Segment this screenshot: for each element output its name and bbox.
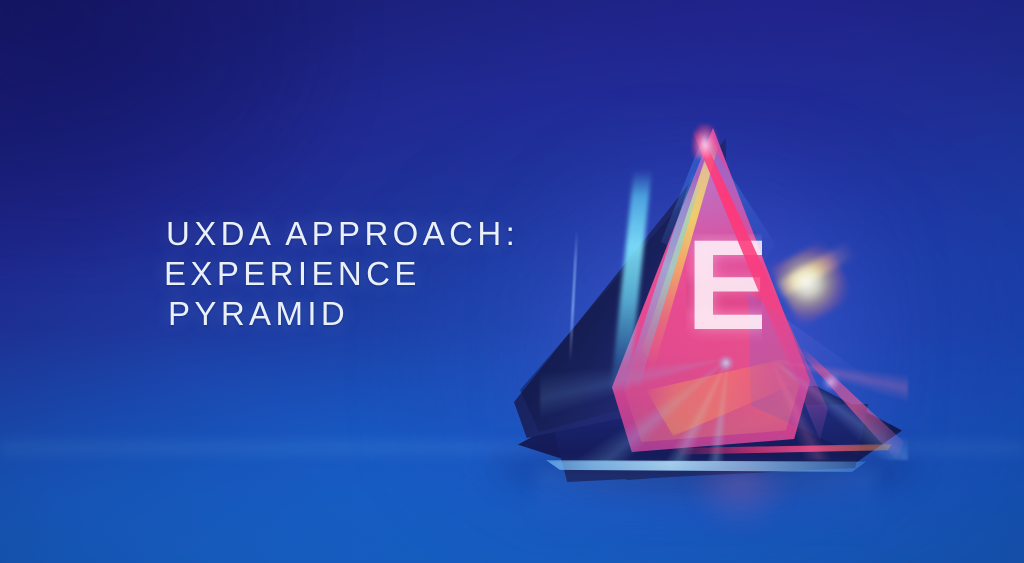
hero-banner: UXDA APPROACH: EXPERIENCE PYRAMID E xyxy=(0,0,1024,563)
headline-line-2: EXPERIENCE xyxy=(164,254,586,294)
pyramid-apex-highlight xyxy=(692,124,718,158)
pyramid-floor-pink-bounce xyxy=(692,472,788,530)
pyramid-left-caustic-node xyxy=(718,356,734,370)
headline-line-3: PYRAMID xyxy=(168,294,586,334)
pyramid-right-caustic-node xyxy=(822,374,840,390)
headline-block: UXDA APPROACH: EXPERIENCE PYRAMID xyxy=(166,214,586,334)
headline-line-1: UXDA APPROACH: xyxy=(166,214,586,254)
